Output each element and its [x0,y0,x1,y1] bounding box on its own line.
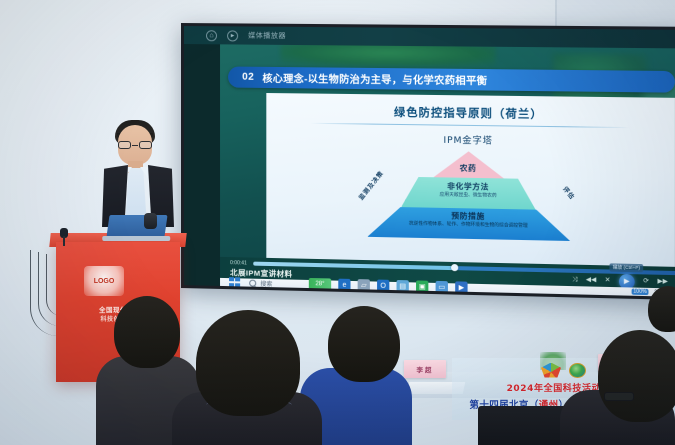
name-placard-left: 李超 [404,360,446,378]
audience-glasses-icon [604,392,634,401]
taskbar-explorer[interactable]: ▱ [358,279,370,291]
audience-member-right-head [598,330,675,422]
search-placeholder: 搜索 [260,278,272,287]
audience-member-far-right-head [648,286,675,332]
taskbar-notes[interactable]: ▤ [397,280,409,292]
slide-subheading: IPM金字塔 [266,130,675,149]
scrubber-handle[interactable] [451,263,458,270]
taskbar-app-icons: 28° e ▱ O ▤ ▣ ▭ ▶ [309,278,468,294]
pyramid-side-label-right: 评估 [562,184,578,201]
audience-member-center-head [196,310,300,416]
playback-time: 0:00:41 [230,260,247,266]
slide-heading: 绿色防控指导原则（荷兰） [266,102,675,124]
repeat-button[interactable]: ⟳ [643,278,649,285]
battery-indicator[interactable]: 100% [631,289,649,296]
slide-canvas: 02 核心理念-以生物防治为主导，与化学农药相平衡 绿色防控指导原则（荷兰） I… [220,44,675,267]
pyramid-tier-top-label: 农药 [437,162,499,174]
taskbar-outlook[interactable]: O [377,280,389,292]
play-tooltip: 播放 (Ctrl+P) [610,263,644,272]
taskbar-search[interactable]: 搜索 [249,278,272,288]
presentation-display[interactable]: ⌂ ▸ 媒体播放器 02 核心理念-以生物防治为主导，与化学农药相平衡 绿色防控… [181,23,675,300]
podium-logo: LOGO [84,266,124,296]
shuffle-button[interactable]: ⤨ [572,277,577,284]
audience-member-blue-head [328,306,400,382]
pyramid-side-label-left: 监测及决策 [356,168,385,201]
play-icon[interactable]: ▸ [227,30,238,41]
slide-section-number: 02 [242,72,254,83]
previous-button[interactable]: ◀◀ [586,277,596,284]
podium-microphone-stem [63,236,65,246]
home-icon[interactable]: ⌂ [206,30,217,41]
placard-left-name: 李超 [417,364,434,374]
glasses-icon [118,141,152,149]
taskbar-player[interactable]: ▶ [455,281,467,294]
desk-microphone [144,213,157,229]
slide-decor-top [280,44,495,67]
presenter-collar-right [140,167,148,178]
agri-festival-logo-icon [569,363,586,378]
weather-widget[interactable]: 28° [309,278,331,291]
next-button[interactable]: ▶▶ [657,279,668,286]
taskbar-edge[interactable]: e [338,279,350,291]
pyramid-tier-mid-label: 非化学方法 应用天敌昆虫、微生物农药 [404,180,532,201]
slide-heading-rule [310,123,629,128]
audience-member-left-head [114,296,180,368]
pyramid-tier-bottom-label: 预防措施 抗逆性作物体系、轮作、作物环境和生物的综合调控管理 [381,209,557,231]
search-icon [249,279,256,286]
presenter [96,115,182,247]
media-app-label: 媒体播放器 [248,31,286,41]
slide-title-banner: 02 核心理念-以生物防治为主导，与化学农药相平衡 [228,66,675,92]
science-week-logo-icon [541,363,561,378]
start-button[interactable] [229,277,240,288]
conference-room-scene: ⌂ ▸ 媒体播放器 02 核心理念-以生物防治为主导，与化学农药相平衡 绿色防控… [0,0,675,445]
taskbar-wechat[interactable]: ▣ [416,280,428,292]
presenter-laptop [106,215,167,237]
stop-button[interactable]: ✕ [605,277,611,284]
ipm-pyramid: 农药 非化学方法 应用天敌昆虫、微生物农药 预防措施 抗逆性作物体系、轮作、作物… [365,150,572,243]
slide-content-panel: 绿色防控指导原则（荷兰） IPM金字塔 农药 非化学方法 应用天敌昆虫、微生物农… [266,93,675,267]
taskbar-folder[interactable]: ▭ [436,281,448,293]
slide-section-title: 核心理念-以生物防治为主导，与化学农药相平衡 [262,70,487,88]
